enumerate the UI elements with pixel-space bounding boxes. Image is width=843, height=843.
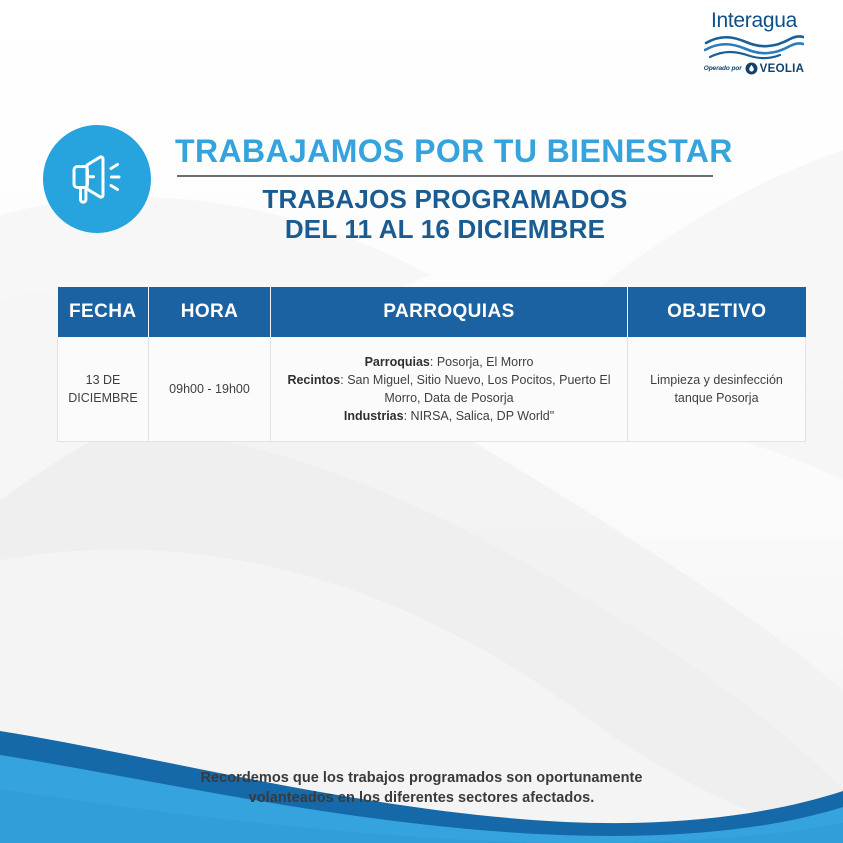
page-subtitle-line2: DEL 11 AL 16 DICIEMBRE bbox=[175, 214, 715, 245]
footer-note-line2: volanteados en los diferentes sectores a… bbox=[0, 788, 843, 809]
cell-objetivo: Limpieza y desinfección tanque Posorja bbox=[628, 337, 806, 441]
parroquias-line-label: Parroquias bbox=[365, 355, 430, 369]
cell-hora: 09h00 - 19h00 bbox=[149, 337, 271, 441]
megaphone-badge bbox=[43, 125, 151, 233]
parroquias-line-sep: : bbox=[430, 355, 437, 369]
table-header: FECHA HORA PARROQUIAS OBJETIVO bbox=[58, 287, 806, 337]
operated-by-label: Operado por bbox=[704, 65, 742, 72]
title-divider bbox=[177, 175, 713, 177]
page-title: TRABAJAMOS POR TU BIENESTAR bbox=[175, 134, 715, 169]
industrias-line-sep: : bbox=[404, 409, 411, 423]
poster-canvas: Interagua Operado por VEOLIA bbox=[0, 0, 843, 843]
schedule-table-container: FECHA HORA PARROQUIAS OBJETIVO 13 DE DIC… bbox=[57, 287, 805, 442]
parroquias-line-value: Posorja, El Morro bbox=[437, 355, 534, 369]
industrias-line: Industrias: NIRSA, Salica, DP World" bbox=[279, 407, 619, 425]
recintos-line-label: Recintos bbox=[287, 373, 340, 387]
page-subtitle-line1: TRABAJOS PROGRAMADOS bbox=[175, 184, 715, 215]
water-waves-icon bbox=[704, 34, 804, 60]
footer-note-line1: Recordemos que los trabajos programados … bbox=[0, 768, 843, 789]
brand-name: Interagua bbox=[689, 10, 819, 31]
column-header-objetivo: OBJETIVO bbox=[628, 287, 806, 337]
operator-attribution: Operado por VEOLIA bbox=[689, 62, 819, 75]
table-row: 13 DE DICIEMBRE 09h00 - 19h00 Parroquias… bbox=[58, 337, 806, 441]
operator-name: VEOLIA bbox=[760, 63, 805, 75]
column-header-hora: HORA bbox=[149, 287, 271, 337]
schedule-table: FECHA HORA PARROQUIAS OBJETIVO 13 DE DIC… bbox=[57, 287, 806, 442]
column-header-parroquias: PARROQUIAS bbox=[271, 287, 628, 337]
title-block: TRABAJAMOS POR TU BIENESTAR TRABAJOS PRO… bbox=[175, 134, 715, 245]
industrias-line-value: NIRSA, Salica, DP World" bbox=[411, 409, 555, 423]
recintos-line-value: San Miguel, Sitio Nuevo, Los Pocitos, Pu… bbox=[347, 373, 610, 405]
veolia-droplet-icon bbox=[745, 62, 758, 75]
table-body: 13 DE DICIEMBRE 09h00 - 19h00 Parroquias… bbox=[58, 337, 806, 441]
veolia-mark: VEOLIA bbox=[745, 62, 805, 75]
recintos-line: Recintos: San Miguel, Sitio Nuevo, Los P… bbox=[279, 371, 619, 407]
industrias-line-label: Industrias bbox=[344, 409, 404, 423]
parroquias-line: Parroquias: Posorja, El Morro bbox=[279, 353, 619, 371]
table-header-row: FECHA HORA PARROQUIAS OBJETIVO bbox=[58, 287, 806, 337]
footer-note: Recordemos que los trabajos programados … bbox=[0, 768, 843, 809]
column-header-fecha: FECHA bbox=[58, 287, 149, 337]
cell-fecha: 13 DE DICIEMBRE bbox=[58, 337, 149, 441]
brand-logo: Interagua Operado por VEOLIA bbox=[689, 10, 819, 75]
megaphone-icon bbox=[67, 151, 127, 207]
cell-parroquias: Parroquias: Posorja, El Morro Recintos: … bbox=[271, 337, 628, 441]
